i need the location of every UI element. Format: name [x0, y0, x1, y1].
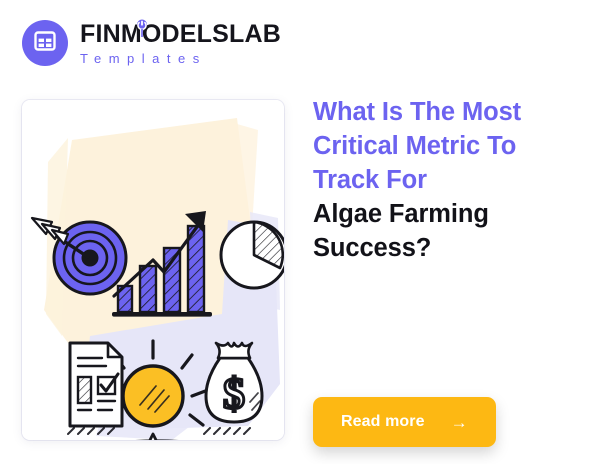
page-title: What Is The Most Critical Metric To Trac…: [313, 96, 583, 266]
content-column: What Is The Most Critical Metric To Trac…: [313, 96, 583, 266]
read-more-button[interactable]: Read more →: [313, 397, 496, 447]
logo-wordmark: FINMODELSLAB Templates: [80, 22, 281, 65]
illustration-card: $: [22, 100, 284, 440]
arrow-right-icon: →: [451, 414, 468, 431]
grid-table-icon: [32, 28, 58, 59]
brand-name-wrap: FINMODELSLAB: [80, 22, 281, 47]
business-analytics-illustration: $: [22, 100, 284, 440]
logo-mark: [22, 20, 68, 66]
checklist-document-icon: [68, 343, 122, 434]
svg-text:$: $: [223, 369, 245, 418]
headline-topic: Algae Farming Success?: [313, 198, 583, 266]
read-more-label: Read more: [341, 413, 425, 431]
brand-name: FINMODELSLAB: [80, 20, 281, 48]
brand-header[interactable]: FINMODELSLAB Templates: [22, 20, 281, 66]
brand-tagline: Templates: [80, 52, 281, 65]
headline-lead: What Is The Most Critical Metric To Trac…: [313, 96, 583, 198]
pie-chart-icon: [221, 222, 284, 288]
